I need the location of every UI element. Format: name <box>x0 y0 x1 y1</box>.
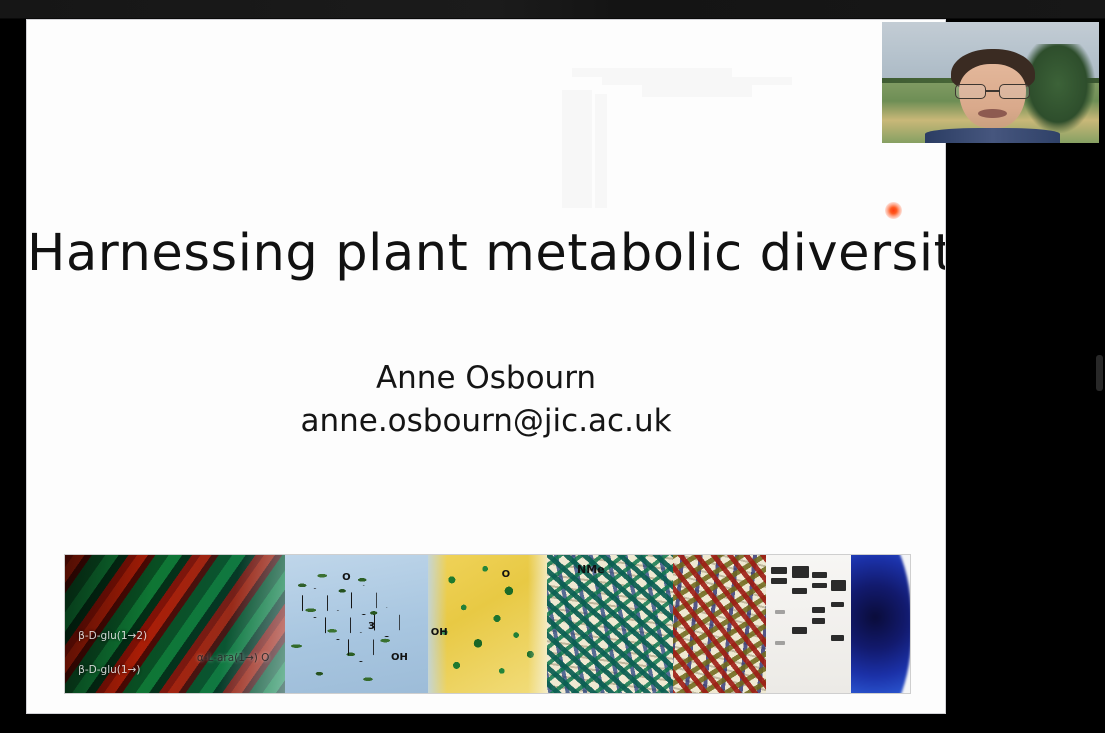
glasses-lens-left <box>955 84 986 98</box>
glycoside-label: α-L-ara(1→) O <box>197 652 270 664</box>
presentation-slide[interactable]: Harnessing plant metabolic diversity Ann… <box>27 20 945 713</box>
speaker-portrait <box>947 49 1038 143</box>
letterbox-left <box>0 19 27 733</box>
glasses-icon <box>955 84 1030 98</box>
window-top-bar <box>0 0 1105 19</box>
montage-panel-protein-ribbon-red <box>673 555 766 693</box>
gel-band <box>775 641 785 645</box>
slide-author-email: anne.osbourn@jic.ac.uk <box>27 403 945 439</box>
compression-artifact <box>562 90 592 208</box>
glasses-bridge <box>986 90 999 92</box>
right-edge-scroll-nub[interactable] <box>1096 355 1103 391</box>
montage-panel-yellow-field-gfp: O OH <box>428 555 546 693</box>
screen-share-surface: Harnessing plant metabolic diversity Ann… <box>0 0 1105 733</box>
montage-panel-protein-ribbon-teal: NMe <box>547 555 674 693</box>
montage-panel-dna-gel <box>766 555 851 693</box>
montage-panel-triterpene-structure: O OH 3 <box>285 555 429 693</box>
self-view-webcam-thumbnail[interactable] <box>882 22 1099 143</box>
gel-band <box>792 627 807 634</box>
compression-artifact <box>642 85 752 97</box>
gel-band <box>812 618 826 624</box>
compression-artifact <box>602 77 792 85</box>
gel-band <box>812 583 827 589</box>
gel-band <box>831 635 845 641</box>
montage-strip: β-D-glu(1→2) β-D-glu(1→) α-L-ara(1→) O O… <box>65 555 910 693</box>
shirt <box>925 128 1060 143</box>
montage-panel-confocal-roots: β-D-glu(1→2) β-D-glu(1→) α-L-ara(1→) O <box>65 555 285 693</box>
letterbox-bottom <box>0 713 1105 733</box>
atom-label-oh: OH <box>391 652 408 663</box>
gel-band <box>775 610 785 614</box>
atom-label-nme: NMe <box>577 563 605 576</box>
glasses-lens-right <box>999 84 1030 98</box>
gel-band <box>792 588 807 594</box>
glycoside-label: β-D-glu(1→) <box>78 664 140 676</box>
gel-band <box>812 572 827 579</box>
leaf-texture <box>285 555 429 693</box>
atom-label-oh: OH <box>431 627 448 638</box>
letterbox-right <box>945 143 1105 733</box>
laser-pointer-dot <box>885 202 902 219</box>
glycoside-label: β-D-glu(1→2) <box>78 630 147 642</box>
atom-label-o: O <box>342 572 351 583</box>
gel-band <box>771 567 786 574</box>
gel-band <box>831 602 845 608</box>
slide-title: Harnessing plant metabolic diversity <box>27 224 945 283</box>
compression-artifact <box>595 94 607 208</box>
gel-band <box>792 566 809 578</box>
gel-band <box>771 578 786 584</box>
slide-author-name: Anne Osbourn <box>27 360 945 396</box>
gel-band <box>831 580 846 591</box>
compression-artifact <box>572 68 732 77</box>
gel-band <box>812 607 826 613</box>
atom-label-o: O <box>502 569 511 580</box>
montage-panel-blue-blot <box>851 555 910 693</box>
position-label-3: 3 <box>368 621 375 632</box>
